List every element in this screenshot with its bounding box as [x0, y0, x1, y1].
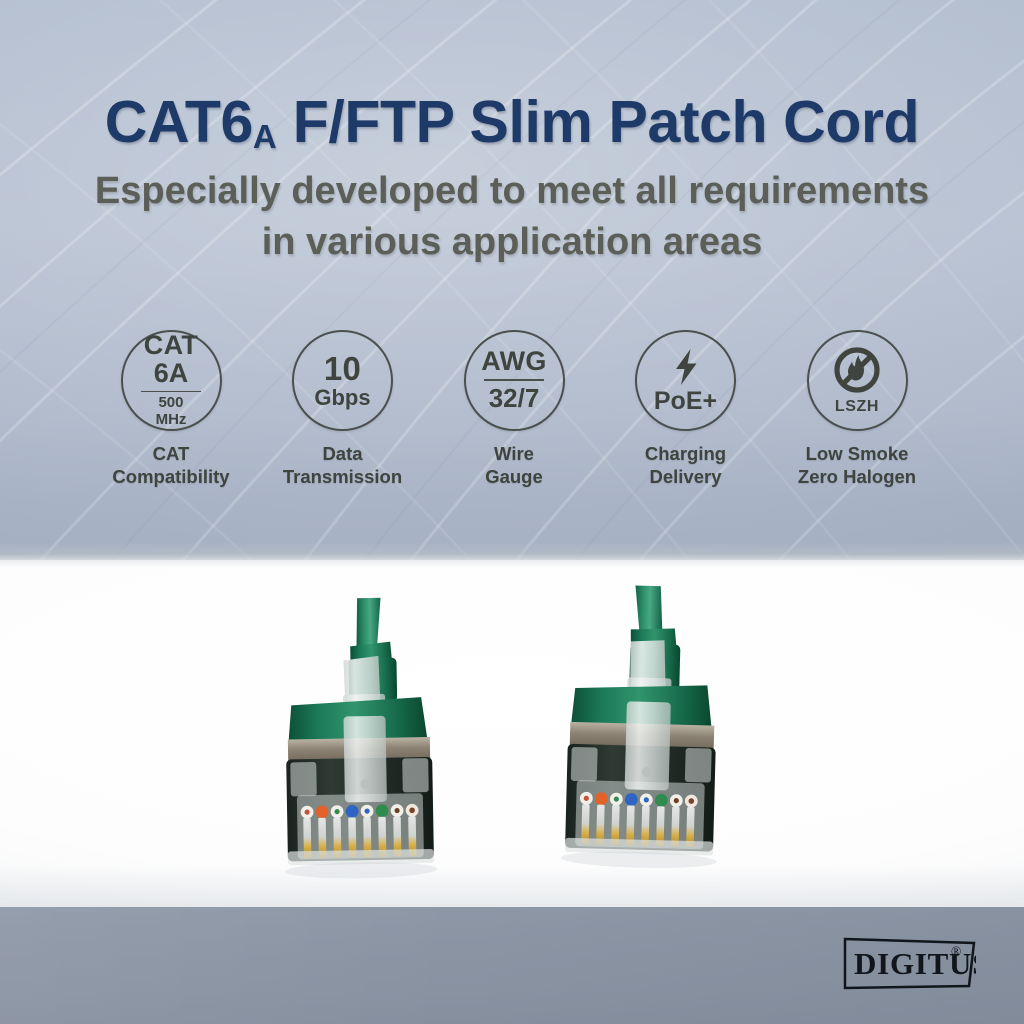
no-flame-icon [832, 345, 882, 395]
badge-cat-frequency: 500 MHz [156, 395, 187, 429]
badge-cat-compatibility: CAT 6A 500 MHz CAT Compatibility [96, 330, 246, 489]
title-main-text: CAT6 [105, 89, 253, 155]
page-title: CAT6A F/FTP Slim Patch Cord [0, 92, 1024, 153]
digitus-logo: DIGITUS ® [843, 936, 976, 991]
rj45-connector-right [548, 583, 756, 888]
badge-divider-rule [484, 379, 544, 381]
photo-bottom-shadow [0, 864, 1024, 912]
badge-data-transmission: 10 Gbps Data Transmission [268, 330, 418, 489]
poe-icon: PoE+ [635, 330, 736, 431]
lightning-bolt-icon [671, 348, 701, 386]
speed-icon: 10 Gbps [292, 330, 393, 431]
header-bottom-fade [0, 542, 1024, 568]
badge-wire-gauge: AWG 32/7 Wire Gauge [439, 330, 589, 489]
subtitle-line-2: in various application areas [0, 217, 1024, 268]
badge-lszh-text: LSZH [835, 398, 879, 416]
badge-label-line2: Gauge [485, 466, 543, 487]
badge-label-line2: Compatibility [112, 466, 229, 487]
badge-label-line1: Wire [494, 443, 534, 464]
badge-cat-mid: 6A [154, 359, 189, 387]
title-rest-text: F/FTP Slim Patch Cord [277, 89, 919, 155]
badge-label-wire-gauge: Wire Gauge [485, 442, 543, 489]
badge-divider-rule [141, 391, 201, 392]
badge-charging-delivery: PoE+ Charging Delivery [611, 330, 761, 489]
badge-awg-label: AWG [481, 348, 546, 375]
header-band: CAT6A F/FTP Slim Patch Cord Especially d… [0, 0, 1024, 568]
badge-label-charging-delivery: Charging Delivery [645, 442, 726, 489]
lszh-icon: LSZH [807, 330, 908, 431]
badge-cat-number: 6 [154, 358, 169, 388]
badge-label-low-smoke-zero-halogen: Low Smoke Zero Halogen [798, 442, 916, 489]
title-subscript-a: A [253, 118, 277, 155]
badge-label-line1: Low Smoke [806, 443, 909, 464]
page-subtitle: Especially developed to meet all require… [0, 166, 1024, 267]
product-photo [0, 560, 1024, 912]
badge-label-line1: CAT [153, 443, 190, 464]
title-block: CAT6A F/FTP Slim Patch Cord Especially d… [0, 92, 1024, 267]
subtitle-line-1: Especially developed to meet all require… [95, 170, 929, 212]
badge-label-line1: Data [322, 443, 362, 464]
badge-poe-text: PoE+ [654, 389, 717, 414]
badge-low-smoke-zero-halogen: LSZH Low Smoke Zero Halogen [782, 330, 932, 489]
rj45-connector-left [269, 596, 474, 899]
awg-icon: AWG 32/7 [464, 330, 565, 431]
registered-trademark-mark: ® [951, 944, 961, 959]
badge-label-line2: Delivery [649, 466, 721, 487]
badge-speed-unit: Gbps [314, 386, 370, 409]
footer-bar: DIGITUS ® [0, 907, 1024, 1024]
feature-badge-row: CAT 6A 500 MHz CAT Compatibility 10 [96, 330, 932, 489]
cat-category-icon: CAT 6A 500 MHz [121, 330, 222, 431]
badge-cat-freq-unit: MHz [156, 411, 187, 428]
badge-awg-value: 32/7 [489, 385, 540, 412]
badge-label-data-transmission: Data Transmission [283, 442, 402, 489]
badge-cat-top: CAT [144, 332, 198, 359]
badge-cat-freq-value: 500 [158, 394, 183, 411]
badge-speed-value: 10 [324, 352, 361, 385]
badge-label-line2: Transmission [283, 466, 402, 487]
product-banner: CAT6A F/FTP Slim Patch Cord Especially d… [0, 0, 1024, 1024]
badge-label-line1: Charging [645, 443, 726, 464]
badge-label-cat-compatibility: CAT Compatibility [112, 442, 229, 489]
badge-cat-number-sub: A [169, 358, 189, 388]
badge-label-line2: Zero Halogen [798, 466, 916, 487]
